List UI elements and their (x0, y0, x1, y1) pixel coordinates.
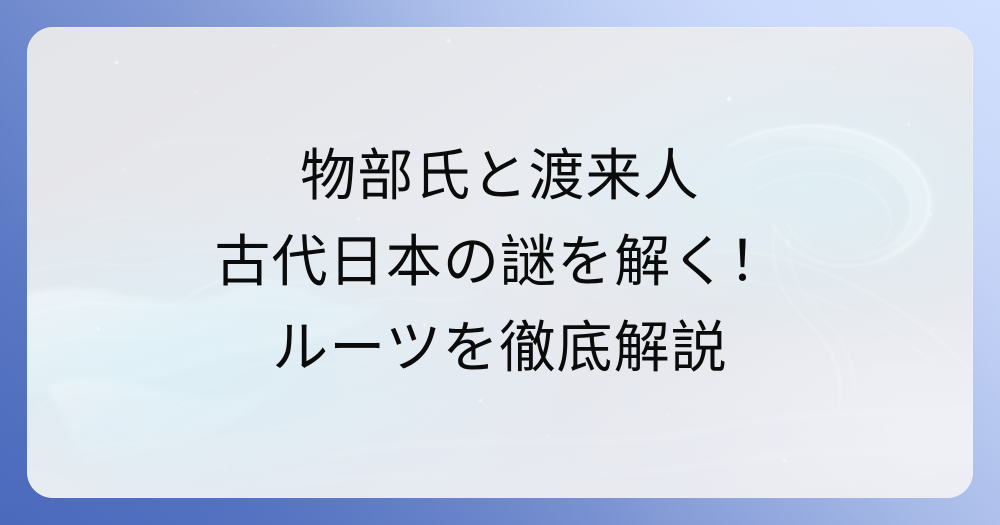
title-card: 物部氏と渡来人 古代日本の謎を解く！ ルーツを徹底解説 (27, 27, 973, 498)
title-line-2: 古代日本の謎を解く！ (214, 220, 785, 306)
title-line-3: ルーツを徹底解説 (272, 306, 728, 392)
title-block: 物部氏と渡来人 古代日本の謎を解く！ ルーツを徹底解説 (27, 27, 973, 498)
eyecatch-image: 物部氏と渡来人 古代日本の謎を解く！ ルーツを徹底解説 (0, 0, 1000, 525)
title-line-1: 物部氏と渡来人 (300, 134, 700, 220)
